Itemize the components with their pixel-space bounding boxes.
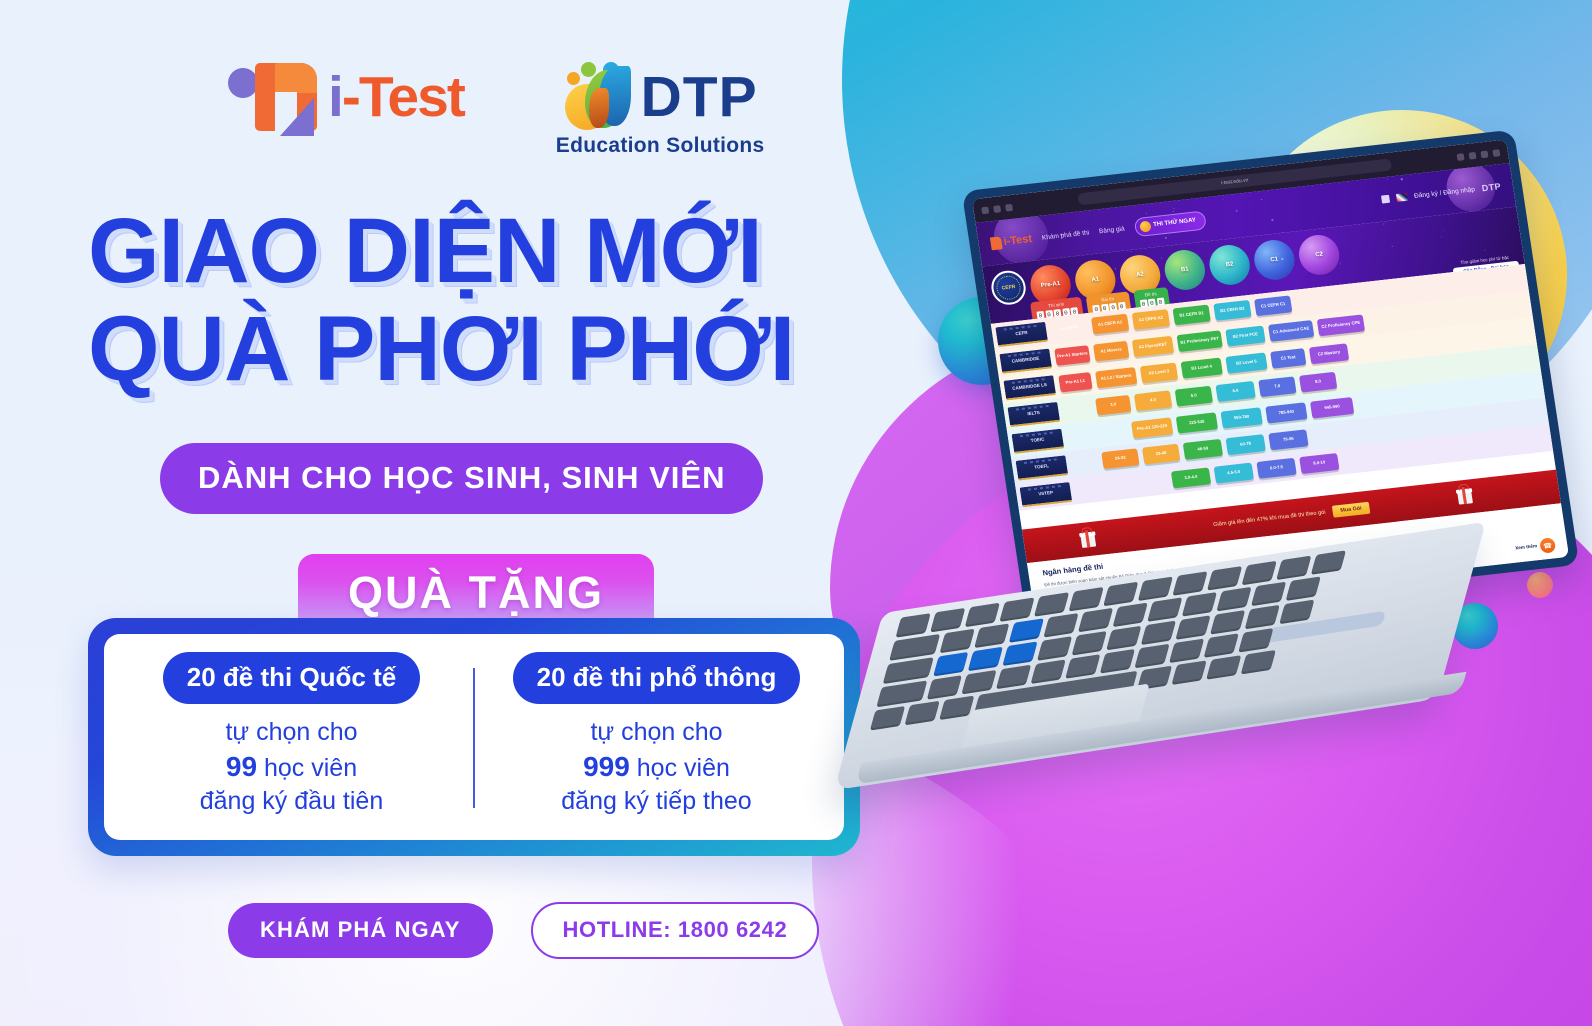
headline-line-2: QUÀ PHƠI PHỚI [88, 304, 794, 394]
grid-cell[interactable]: C2 Proficiency CPE [1317, 314, 1365, 336]
key[interactable] [1170, 639, 1205, 661]
grid-cell[interactable]: C1 Advanced CAE [1268, 320, 1314, 342]
browser-toolbar-icons[interactable] [1457, 149, 1501, 161]
grid-cell-spacer: A1 CEFR [1050, 318, 1088, 339]
itest-logo-icon [228, 58, 326, 136]
navbar-try-now-icon [1139, 220, 1152, 232]
counter-label-tests: Bài thi [1101, 296, 1114, 302]
key[interactable] [1172, 660, 1207, 682]
grid-cell[interactable]: Pre-A1 Starters [1054, 345, 1090, 366]
decor-star [1392, 246, 1393, 247]
grid-cell[interactable]: C2 Mastery [1309, 343, 1349, 364]
decor-star [1261, 199, 1262, 200]
key[interactable] [1107, 626, 1142, 648]
dtp-logo-icon [563, 62, 635, 132]
grid-cell-spacer [1070, 453, 1098, 473]
grid-row-label: TOEFL [1015, 455, 1068, 480]
grid-cell[interactable]: 6.0 [1215, 381, 1255, 402]
grid-cell[interactable]: 79-95 [1268, 429, 1308, 450]
itest-logo-text: i-Test [328, 69, 464, 126]
key[interactable] [1217, 587, 1252, 609]
key[interactable] [1280, 600, 1315, 622]
key[interactable] [1176, 615, 1211, 637]
decor-star [1173, 211, 1174, 212]
grid-cell[interactable]: A2 CEFR A2 [1132, 309, 1170, 330]
browser-profile-icon[interactable] [1480, 150, 1488, 158]
key[interactable] [975, 623, 1010, 645]
grid-cell[interactable]: 24-32 [1101, 448, 1139, 469]
grid-cell[interactable]: Pre-A1 L1 [1058, 372, 1092, 392]
browser-forward-icon[interactable] [993, 205, 1001, 213]
gift-offer-left-pill: 20 đề thi Quốc tế [163, 652, 421, 704]
decor-star [1383, 223, 1384, 224]
key[interactable] [896, 613, 931, 635]
gift-offer-left-line1: tự chọn cho [200, 716, 383, 749]
key[interactable] [1031, 659, 1066, 681]
grid-cell[interactable]: 550-780 [1220, 407, 1262, 428]
key[interactable] [1000, 597, 1035, 619]
browser-bookmark-icon[interactable] [1468, 151, 1476, 159]
grid-cell[interactable]: 785-940 [1265, 402, 1307, 423]
key[interactable] [1208, 566, 1243, 588]
gift-section-badge-label: QUÀ TẶNG [348, 567, 604, 619]
key[interactable] [1100, 649, 1135, 671]
counter-label-exams: Đề thi [1144, 291, 1156, 297]
browser-menu-icon[interactable] [1492, 149, 1500, 157]
grid-cell[interactable]: 33-45 [1142, 444, 1180, 465]
decor-star [1443, 230, 1444, 231]
key[interactable] [1207, 655, 1242, 677]
grid-cell[interactable]: B2 Level 5 [1225, 352, 1267, 373]
decor-star [1281, 258, 1283, 260]
navbar-try-now-label: THI THỬ NGAY [1153, 217, 1196, 228]
grid-row-label: CEFR [995, 321, 1048, 346]
grid-cell[interactable]: 3.0-4.0 [1171, 467, 1211, 488]
audience-badge: DÀNH CHO HỌC SINH, SINH VIÊN [160, 443, 763, 514]
grid-cell[interactable]: 225-545 [1176, 412, 1218, 433]
laptop-mockup: i-test.edu.vn i-Test [845, 150, 1585, 770]
navbar-itest-logo-icon [990, 236, 1003, 250]
grid-cell-spacer [1074, 472, 1168, 499]
gift-offer-right-line3: đăng ký tiếp theo [561, 785, 751, 818]
key[interactable] [1252, 582, 1287, 604]
grid-cell-spacer [1062, 399, 1092, 419]
explore-button[interactable]: KHÁM PHÁ NGAY [228, 903, 493, 958]
decor-star [1272, 219, 1274, 221]
browser-extensions-icon[interactable] [1457, 153, 1465, 161]
gift-box-icon-left [1078, 526, 1097, 548]
decor-star [1236, 210, 1238, 212]
key[interactable] [997, 665, 1032, 687]
key-caps[interactable] [883, 657, 933, 682]
grid-cell[interactable]: A1 CEFR A1 [1091, 314, 1129, 335]
key[interactable] [1138, 576, 1173, 598]
gift-offer-right-count-suffix: học viên [630, 754, 730, 782]
navbar-item-explore[interactable]: Khám phá đề thi [1041, 229, 1089, 241]
key[interactable] [1104, 582, 1139, 604]
gift-offer-column-left: 20 đề thi Quốc tế tự chọn cho 99 học viê… [110, 652, 473, 826]
gift-offer-divider [473, 668, 475, 808]
key[interactable] [1204, 633, 1239, 655]
key[interactable] [1066, 654, 1101, 676]
key[interactable] [1069, 587, 1104, 609]
key[interactable] [905, 701, 940, 723]
key[interactable] [1135, 644, 1170, 666]
decor-star [1401, 178, 1403, 180]
itest-logo-i: i [328, 65, 342, 129]
grid-cell[interactable]: Pre-A1 120-220 [1131, 417, 1173, 438]
decor-star [1223, 199, 1224, 200]
gift-offer-card: 20 đề thi Quốc tế tự chọn cho 99 học viê… [88, 618, 860, 856]
decor-star [1146, 213, 1147, 214]
grid-cell[interactable]: 8.0-10 [1299, 453, 1339, 474]
promo-strip-text: Giảm giá lên đến 47% khi mua đề thi theo… [1213, 510, 1326, 529]
key-tab[interactable] [890, 634, 940, 659]
key[interactable] [1242, 561, 1277, 583]
key[interactable] [1141, 621, 1176, 643]
key[interactable] [1211, 610, 1246, 632]
grid-cell[interactable]: 4.5-5.5 [1214, 463, 1254, 484]
promo-buy-package-button[interactable]: Mua Gói [1332, 502, 1371, 518]
key[interactable] [1277, 556, 1312, 578]
navbar-grid-icon[interactable] [1381, 195, 1390, 204]
promo-banner-page: i-Test DTP Education Solutions GIAO [0, 0, 1592, 1026]
grid-cell[interactable]: 46-59 [1183, 439, 1223, 460]
key[interactable] [1241, 650, 1276, 672]
gift-offer-right-pill: 20 đề thi phổ thông [513, 652, 801, 704]
key[interactable] [1072, 631, 1107, 653]
key[interactable] [1113, 603, 1148, 625]
key[interactable] [962, 670, 997, 692]
counter-label-candidates: Thí sinh [1048, 302, 1065, 309]
browser-back-icon[interactable] [981, 206, 989, 214]
key[interactable] [1286, 576, 1321, 598]
key-highlighted[interactable] [1009, 618, 1044, 640]
decor-star [1441, 236, 1442, 237]
grid-row-label: CAMBRIDGE [999, 348, 1052, 373]
decor-star [1339, 263, 1341, 265]
exam-bank-more-link[interactable]: Xem thêm [1515, 543, 1538, 550]
key[interactable] [1311, 550, 1346, 572]
gift-offer-left-line2: 99 học viên [200, 749, 383, 786]
key[interactable] [1035, 592, 1070, 614]
grid-cell[interactable]: A2 Level 3 [1140, 362, 1178, 383]
decor-star [1173, 208, 1174, 209]
grid-cell[interactable]: 945-990 [1310, 397, 1354, 418]
decor-star [1161, 258, 1162, 259]
grid-cell[interactable]: 3.0 [1095, 395, 1131, 416]
grid-row-label: CAMBRIDGE LS [1003, 375, 1056, 400]
gift-box-icon-right [1455, 483, 1474, 505]
grid-cell[interactable]: 5.0 [1175, 386, 1213, 407]
key[interactable] [1038, 636, 1073, 658]
decor-star [1321, 252, 1323, 254]
decor-star [982, 244, 983, 245]
laptop-lid: i-test.edu.vn i-Test [962, 130, 1580, 627]
grid-cell[interactable]: A2 Flyers/KET [1132, 336, 1174, 357]
decor-star [1042, 275, 1043, 276]
grid-cell[interactable]: 7.0 [1258, 376, 1296, 397]
key-shift[interactable] [877, 680, 927, 705]
cta-row: KHÁM PHÁ NGAY HOTLINE: 1800 6242 [228, 902, 819, 959]
decor-star [1277, 254, 1278, 255]
grid-cell[interactable]: B1 Level 4 [1181, 357, 1223, 378]
browser-reload-icon[interactable] [1005, 203, 1013, 211]
key-highlighted[interactable] [934, 652, 969, 674]
key[interactable] [1173, 571, 1208, 593]
grid-cell[interactable]: 60-78 [1226, 434, 1266, 455]
grid-cell[interactable]: C1 Test [1270, 348, 1306, 369]
decor-star [1114, 268, 1116, 270]
navbar-try-now-button[interactable]: THI THỬ NGAY [1133, 210, 1207, 237]
key[interactable] [1044, 613, 1079, 635]
key[interactable] [940, 696, 975, 718]
itest-logo[interactable]: i-Test [228, 58, 464, 136]
chat-support-icon[interactable]: ☎ [1539, 537, 1556, 554]
navbar-language-flag-icon[interactable] [1396, 193, 1408, 202]
key[interactable] [1148, 597, 1183, 619]
gift-offer-right-line2: 999 học viên [561, 749, 751, 786]
gift-offer-right-count: 999 [583, 751, 630, 782]
cefr-badge: CEFR [989, 269, 1028, 306]
grid-cell-spacer [1066, 422, 1128, 446]
hotline-button[interactable]: HOTLINE: 1800 6242 [531, 902, 820, 959]
key[interactable] [931, 608, 966, 630]
grid-cell[interactable]: B2 CEFR B2 [1213, 300, 1251, 321]
grid-cell[interactable]: 6.0-7.5 [1256, 458, 1296, 479]
grid-row-label: VSTEP [1019, 482, 1072, 507]
page-title: GIAO DIỆN MỚI QUÀ PHƠI PHỚI [88, 206, 794, 394]
gift-offer-left-count-suffix: học viên [257, 754, 357, 782]
gift-offer-right-line1: tự chọn cho [561, 716, 751, 749]
grid-cell[interactable]: A1 L2 / Starters [1095, 367, 1137, 388]
key[interactable] [1239, 628, 1274, 650]
grid-cell[interactable]: B1 Preliminary PET [1177, 330, 1223, 352]
key[interactable] [871, 706, 906, 728]
logo-row: i-Test DTP Education Solutions [228, 58, 765, 158]
grid-cell[interactable]: A1 Movers [1093, 341, 1129, 362]
grid-row-label: IELTS [1007, 401, 1060, 426]
key-highlighted[interactable] [968, 647, 1003, 669]
decor-star [1165, 237, 1167, 239]
key[interactable] [1245, 605, 1280, 627]
decor-star [1130, 250, 1131, 251]
key[interactable] [927, 675, 962, 697]
grid-row-label: TOEIC [1011, 428, 1064, 453]
key-highlighted[interactable] [1003, 641, 1038, 663]
gift-offer-right-detail: tự chọn cho 999 học viên đăng ký tiếp th… [561, 716, 751, 818]
browser-nav-controls[interactable] [981, 203, 1013, 213]
grid-cell[interactable]: 4.0 [1134, 390, 1172, 411]
gift-offer-column-right: 20 đề thi phổ thông tự chọn cho 999 học … [475, 652, 838, 826]
dtp-logo-text: DTP [641, 70, 758, 124]
dtp-logo[interactable]: DTP Education Solutions [556, 58, 765, 158]
grid-cell[interactable]: 8.0 [1299, 372, 1337, 393]
navbar-itest-logo-text: i-Test [1003, 233, 1033, 248]
dtp-logo-tagline: Education Solutions [556, 134, 765, 158]
grid-cell[interactable]: B1 CEFR B1 [1173, 305, 1211, 326]
gift-offer-left-count: 99 [226, 751, 257, 782]
gift-offer-left-line3: đăng ký đầu tiên [200, 785, 383, 818]
key[interactable] [1079, 608, 1114, 630]
navbar-item-pricing[interactable]: Bảng giá [1098, 225, 1125, 235]
headline-line-1: GIAO DIỆN MỚI [88, 200, 762, 302]
key[interactable] [1182, 592, 1217, 614]
navbar-dtp-logo[interactable]: DTP [1481, 181, 1502, 193]
key[interactable] [965, 603, 1000, 625]
key[interactable] [940, 629, 975, 651]
gift-offer-left-detail: tự chọn cho 99 học viên đăng ký đầu tiên [200, 716, 383, 818]
decor-star [1387, 178, 1388, 179]
itest-logo-rest: -Test [342, 65, 464, 129]
grid-cell[interactable]: C1 CEFR C1 [1254, 295, 1292, 316]
grid-cell[interactable]: B2 First FCE [1225, 326, 1265, 347]
